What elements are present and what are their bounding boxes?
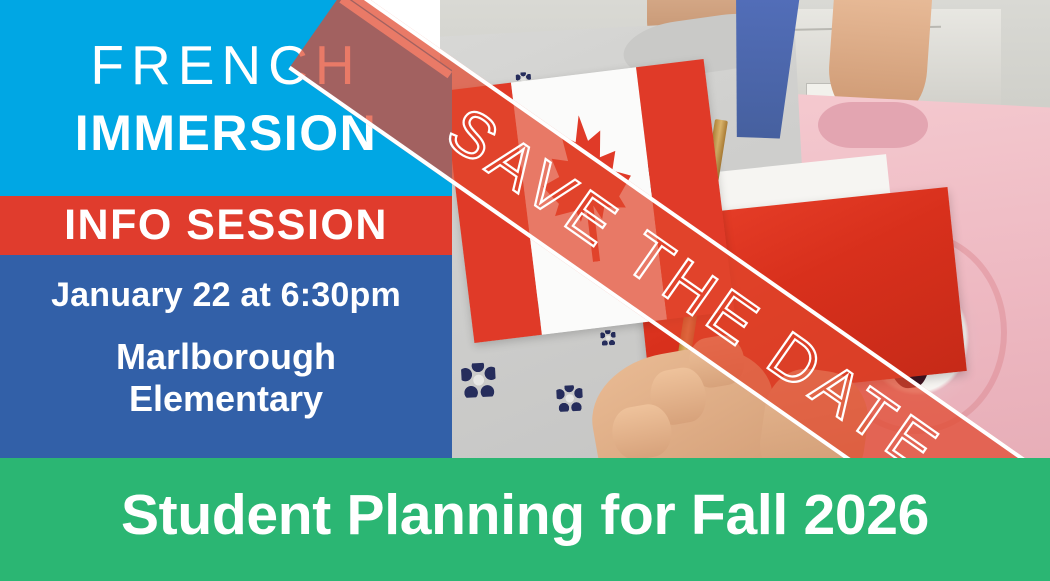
event-type-label: INFO SESSION: [0, 200, 452, 250]
event-datetime: January 22 at 6:30pm: [0, 276, 452, 314]
footer-headline: Student Planning for Fall 2026: [0, 479, 1050, 551]
floral-print-motif: [599, 329, 615, 345]
location-line2: Elementary: [0, 378, 452, 420]
save-the-date-poster: FRENCH IMMERSION INFO SESSION January 22…: [0, 0, 1050, 581]
floral-print-motif: [460, 362, 496, 398]
location-line1: Marlborough: [0, 336, 452, 378]
floral-print-motif: [555, 384, 582, 411]
pink-tshirt-collar: [818, 102, 928, 148]
